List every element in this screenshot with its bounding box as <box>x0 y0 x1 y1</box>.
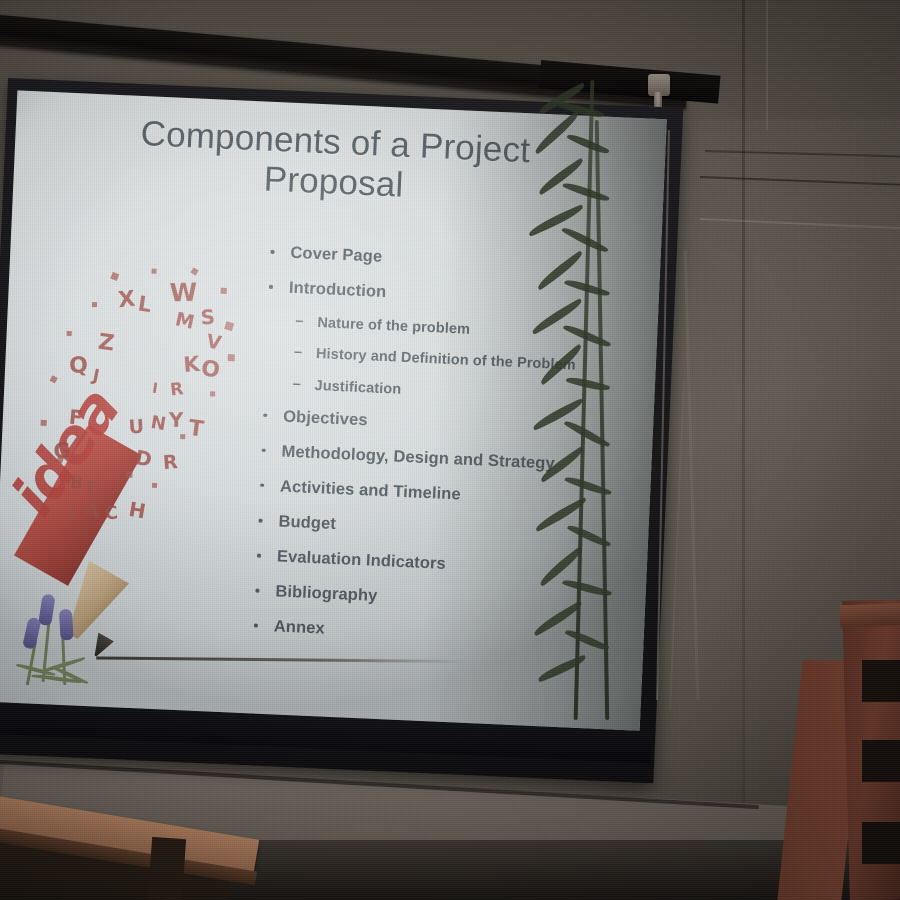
ceiling-cord <box>766 0 768 130</box>
scatter-square <box>92 302 97 307</box>
scatter-square <box>221 288 227 294</box>
bullet-item: Cover Page <box>264 242 595 277</box>
scatter-letter: U <box>128 416 145 439</box>
scatter-square <box>50 375 58 383</box>
scatter-letter: J <box>91 366 101 387</box>
scatter-letter: S <box>200 305 216 330</box>
scatter-letter: D <box>133 445 154 472</box>
scatter-letter: A <box>84 499 100 521</box>
scatter-square <box>151 269 156 274</box>
projection-screen: Components of a Project Proposal idea X … <box>0 78 683 783</box>
projected-slide: Components of a Project Proposal idea X … <box>0 90 667 730</box>
scatter-letter: H <box>127 497 147 523</box>
sub-bullet-item: Nature of the problem <box>295 313 592 344</box>
scatter-letter: C <box>104 502 119 524</box>
bullet-item: Evaluation Indicators <box>251 545 582 580</box>
scatter-letter: V <box>205 330 223 354</box>
bullet-item: Budget <box>252 510 583 545</box>
scatter-letter: K <box>183 352 201 377</box>
scatter-letter: N <box>149 412 167 435</box>
scatter-letter: R <box>162 451 178 474</box>
scatter-square <box>190 267 198 275</box>
wooden-desk-leg <box>148 837 186 900</box>
scatter-letter: X <box>117 287 136 313</box>
sub-bullet-item: History and Definition of the Problem <box>294 344 591 375</box>
cabinet-shelf-opening <box>862 660 900 702</box>
scatter-letter: F <box>68 405 84 430</box>
scatter-letter: W <box>169 278 197 308</box>
classroom-photo-scene: Components of a Project Proposal idea X … <box>0 0 900 900</box>
cabinet-shelf-opening <box>862 822 900 864</box>
cabinet-shelf-opening <box>862 740 900 782</box>
flower-head <box>22 617 41 650</box>
scatter-square <box>228 354 235 361</box>
scatter-square <box>152 483 157 488</box>
bullet-item: Bibliography <box>249 581 580 616</box>
bullet-item: Objectives <box>257 405 588 440</box>
sub-bullet-item: Justification <box>292 375 589 406</box>
scatter-square <box>224 321 234 331</box>
bullet-item: Activities and Timeline <box>254 475 585 510</box>
scatter-letter: L <box>136 291 153 317</box>
scatter-square <box>110 272 119 281</box>
scatter-letter: M <box>173 308 196 334</box>
flower-head <box>38 593 55 626</box>
scatter-square <box>67 331 72 336</box>
scatter-square <box>69 509 74 514</box>
scatter-letter: Z <box>97 330 116 357</box>
scatter-square <box>180 434 185 439</box>
scatter-square <box>210 391 215 396</box>
scatter-square <box>126 472 132 478</box>
scatter-square <box>41 420 47 426</box>
scatter-letter: T <box>187 416 205 443</box>
flower-head <box>59 609 74 641</box>
scatter-letter: O <box>200 356 221 383</box>
flower-leaf <box>53 665 89 686</box>
bullet-item: Introduction <box>263 277 594 312</box>
bullet-item: Methodology, Design and Strategy <box>255 440 586 475</box>
wall-corner-seam <box>742 0 745 900</box>
scatter-letter: I <box>151 381 159 398</box>
wooden-cabinet-top <box>840 603 900 628</box>
scatter-letter: R <box>169 379 184 400</box>
slide-bullet-list: Cover Page Introduction Nature of the pr… <box>247 242 595 666</box>
slide-title: Components of a Project Proposal <box>73 111 596 214</box>
bullet-sublist: Nature of the problem History and Defini… <box>292 313 591 406</box>
lavender-flowers <box>17 591 131 696</box>
scatter-letter: Y <box>169 408 184 432</box>
scatter-letter: Q <box>69 353 89 379</box>
bullet-item: Annex <box>247 616 578 651</box>
scatter-letter: E <box>85 478 97 498</box>
